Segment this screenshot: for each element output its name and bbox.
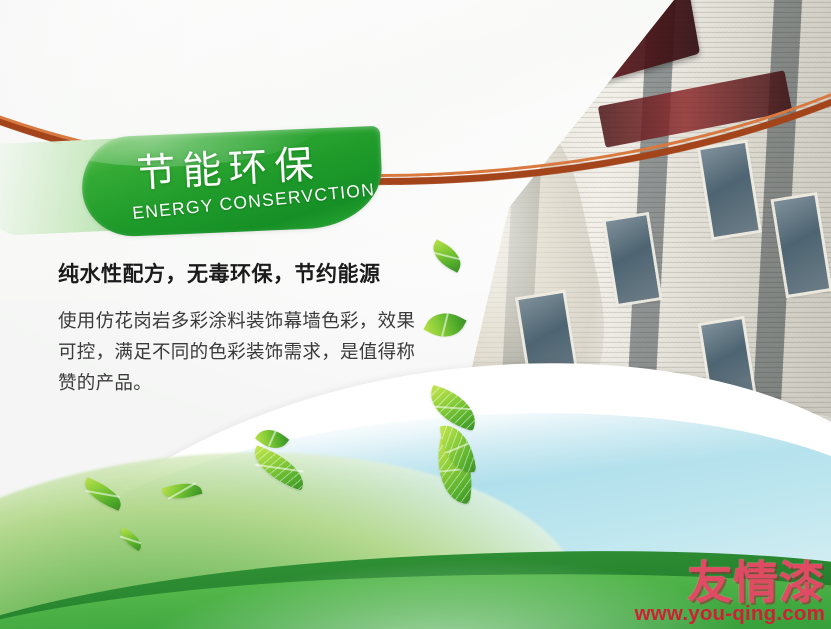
brand-logo: 友情漆 www.you-qing.com [635,559,825,625]
brand-name: 友情漆 [635,559,825,607]
leaf-icon [423,305,466,346]
headline-text: 纯水性配方，无毒环保，节约能源 [58,258,381,288]
body-paragraph: 使用仿花岗岩多彩涂料装饰幕墙色彩，效果可控，满足不同的色彩装饰需求，是值得称赞的… [58,306,418,399]
leaf-icon [427,239,466,273]
brand-website: www.you-qing.com [635,603,825,625]
green-banner: 节能环保 ENERGY CONSERVCTION [80,126,384,238]
promo-banner-canvas: 节能环保 ENERGY CONSERVCTION 纯水性配方，无毒环保，节约能源… [0,0,831,629]
